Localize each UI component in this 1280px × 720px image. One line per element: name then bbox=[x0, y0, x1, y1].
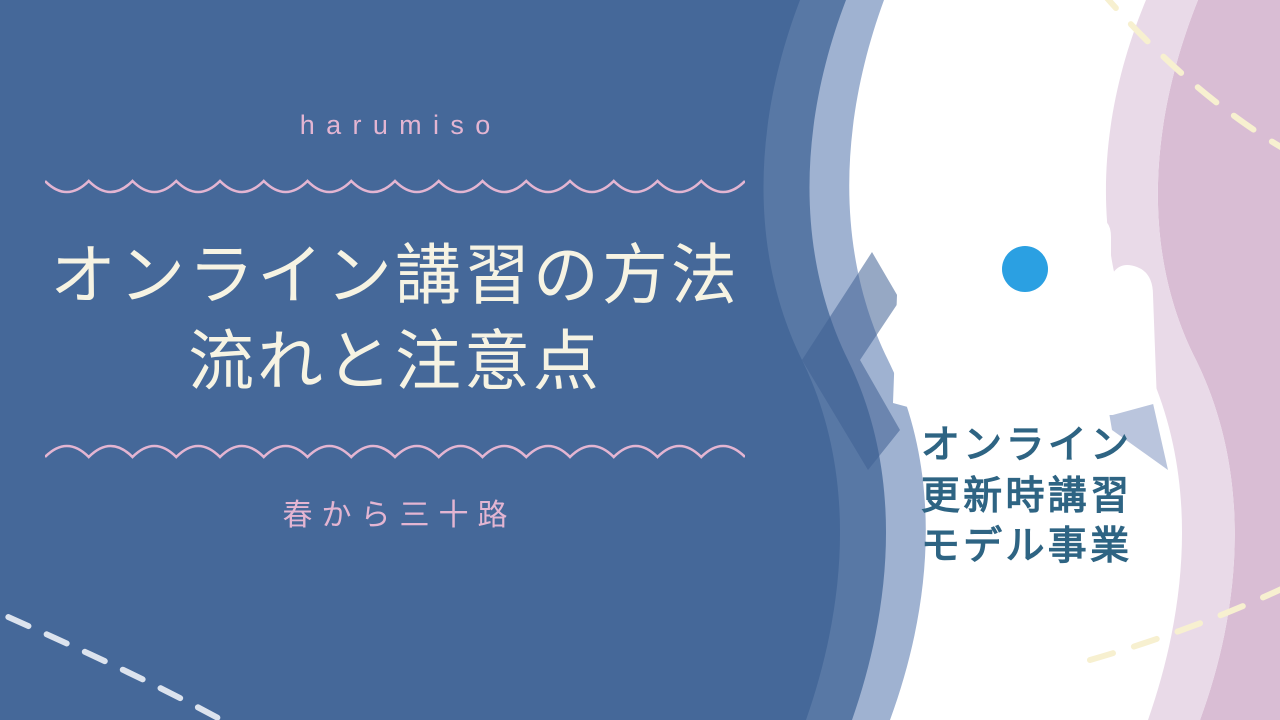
page-title: オンライン講習の方法 流れと注意点 bbox=[50, 233, 740, 405]
logo-text: オンライン 更新時講習 モデル事業 bbox=[918, 421, 1133, 573]
page-title-line-1: オンライン講習の方法 bbox=[50, 233, 740, 319]
scallop-divider-bottom-wrap bbox=[45, 435, 745, 461]
page-title-line-2: 流れと注意点 bbox=[50, 319, 740, 405]
wheel-hub-center bbox=[1002, 246, 1048, 292]
left-content-column: harumiso オンライン講習の方法 流れと注意点 春から三十路 bbox=[0, 0, 790, 720]
tagline: 春から三十路 bbox=[274, 501, 517, 531]
steering-wheel-hands-icon: 0%#2D6B8C 100%#3E88AC 0%#3A86C6 100%#2B7… bbox=[855, 85, 1195, 415]
logo-text-line-3: モデル事業 bbox=[918, 522, 1133, 573]
logo-text-line-1: オンライン bbox=[918, 421, 1133, 472]
scallop-divider-bottom-icon bbox=[45, 435, 745, 461]
brand-name: harumiso bbox=[288, 112, 501, 139]
scallop-divider-top-icon bbox=[45, 177, 745, 203]
logo-text-line-2: 更新時講習 bbox=[918, 472, 1133, 523]
logo-block: 0%#2D6B8C 100%#3E88AC 0%#3A86C6 100%#2B7… bbox=[845, 85, 1205, 615]
eyecatch-canvas: 0%#2D6B8C 100%#3E86A8 bbox=[0, 0, 1280, 720]
